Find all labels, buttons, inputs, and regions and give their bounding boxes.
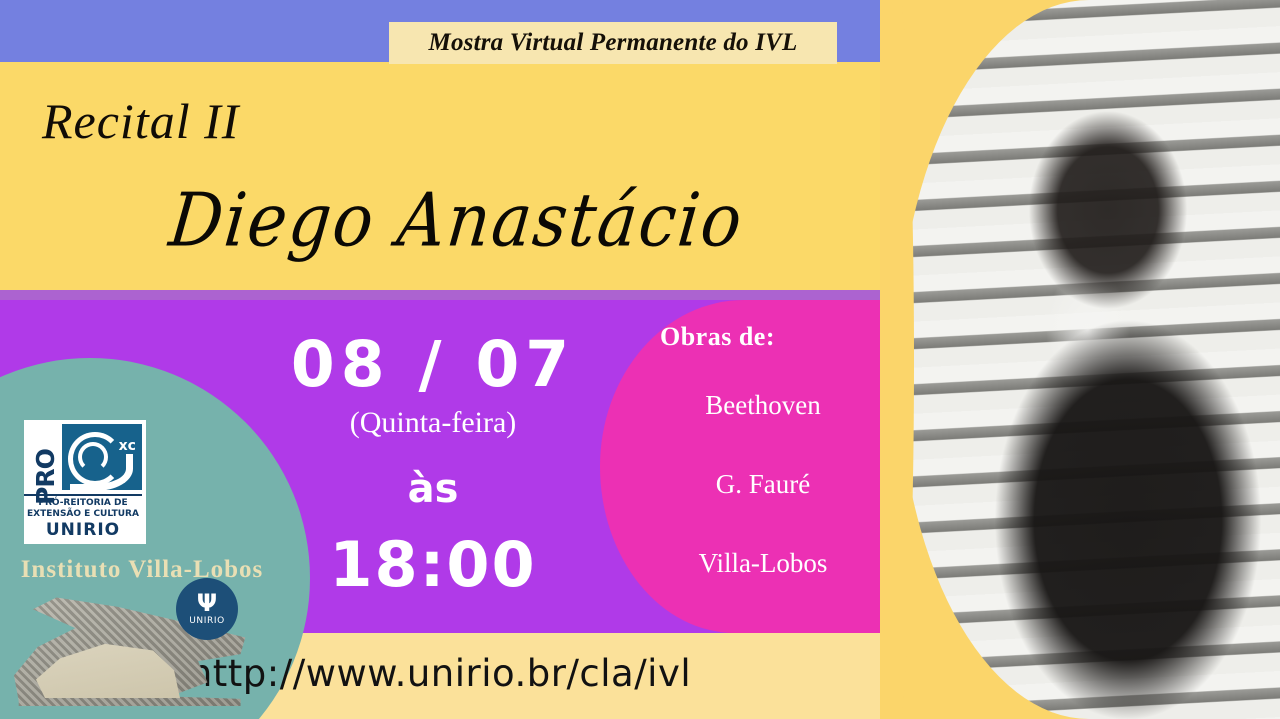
poster-canvas: Mostra Virtual Permanente do IVL Recital…	[0, 0, 1280, 719]
proexc-subtitle: PRÓ-REITORIA DE EXTENSÃO E CULTURA	[24, 494, 142, 520]
list-item: Villa-Lobos	[648, 548, 878, 579]
artist-photo	[898, 0, 1280, 719]
photo-curve-edge	[880, 0, 914, 719]
time-preposition: às	[238, 466, 628, 512]
event-weekday: (Quinta-feira)	[238, 406, 628, 440]
proexc-xc-text: xc	[119, 438, 136, 454]
proexc-institution: UNIRIO	[24, 520, 142, 540]
exhibition-banner: Mostra Virtual Permanente do IVL	[389, 22, 837, 64]
list-item: G. Fauré	[648, 469, 878, 500]
institute-title: Instituto Villa-Lobos	[14, 556, 270, 584]
artist-photo-region	[880, 0, 1280, 719]
proexc-subtitle-line2: EXTENSÃO E CULTURA	[24, 509, 142, 520]
proexc-subtitle-line1: PRÓ-REITORIA DE	[24, 498, 142, 509]
artist-name: Diego Anastácio	[165, 177, 747, 263]
event-time: 18:00	[238, 528, 628, 601]
swoosh-icon	[70, 454, 133, 491]
unirio-seal: Ψ UNIRIO	[176, 578, 238, 640]
exhibition-banner-text: Mostra Virtual Permanente do IVL	[429, 29, 798, 57]
unirio-seal-label: UNIRIO	[189, 616, 225, 626]
proexc-logo: PRO xc PRÓ-REITORIA DE EXTENSÃO E CULTUR…	[24, 420, 146, 544]
proexc-blue-square: xc	[62, 424, 142, 490]
series-title: Recital II	[42, 92, 239, 150]
proexc-logo-mark: PRO xc	[26, 422, 144, 492]
event-date: 08 / 07	[238, 328, 628, 401]
photo-yellow-backdrop	[880, 0, 1280, 719]
composer-list: Beethoven G. Fauré Villa-Lobos	[648, 390, 878, 579]
program-label: Obras de:	[660, 322, 870, 352]
unirio-glyph-icon: Ψ	[197, 592, 217, 614]
list-item: Beethoven	[648, 390, 878, 421]
